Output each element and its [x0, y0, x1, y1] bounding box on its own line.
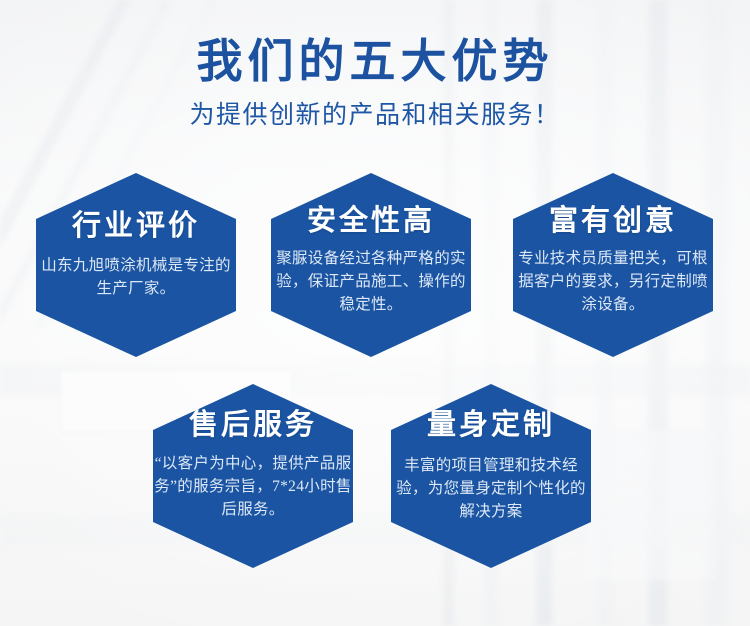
page-subtitle: 为提供创新的产品和相关服务！: [0, 101, 750, 131]
background-panel-right: [585, 430, 715, 580]
advantage-title: 富有创意: [549, 206, 677, 238]
advantage-body: “以客户为中心，提供产品服务”的服务宗旨，7*24小时售后服务。: [147, 453, 359, 522]
advantage-title: 行业评价: [72, 211, 200, 243]
advantage-title: 量身定制: [427, 410, 555, 442]
advantage-hexagon-industry-rating[interactable]: 行业评价 山东九旭喷涂机械是专注的生产厂家。: [36, 173, 236, 357]
advantage-title: 安全性高: [307, 206, 435, 238]
advantage-body: 聚脲设备经过各种严格的实验，保证产品施工、操作的稳定性。: [265, 248, 477, 317]
banner-header: 我们的五大优势 为提供创新的产品和相关服务！: [0, 36, 750, 131]
promo-banner: 我们的五大优势 为提供创新的产品和相关服务！ 行业评价 山东九旭喷涂机械是专注的…: [0, 0, 750, 626]
advantage-body: 山东九旭喷涂机械是专注的生产厂家。: [32, 255, 240, 301]
advantage-hexagon-high-safety[interactable]: 安全性高 聚脲设备经过各种严格的实验，保证产品施工、操作的稳定性。: [271, 173, 471, 357]
advantage-body: 专业技术员质量把关，可根据客户的要求，另行定制喷涂设备。: [507, 248, 719, 317]
advantage-hexagon-creative[interactable]: 富有创意 专业技术员质量把关，可根据客户的要求，另行定制喷涂设备。: [513, 173, 713, 357]
page-title: 我们的五大优势: [0, 36, 750, 89]
advantage-hexagon-tailor-made[interactable]: 量身定制 丰富的项目管理和技术经验，为您量身定制个性化的解决方案: [391, 384, 591, 568]
advantage-body: 丰富的项目管理和技术经验，为您量身定制个性化的解决方案: [386, 455, 596, 524]
advantage-title: 售后服务: [189, 410, 317, 442]
